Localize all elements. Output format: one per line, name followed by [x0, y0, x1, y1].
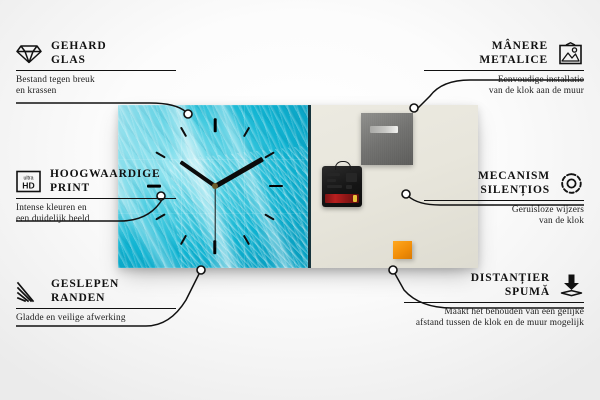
- feature-title-line2: SILENȚIOS: [478, 184, 550, 198]
- diamond-icon: [16, 43, 42, 64]
- feature-subtitle-line2: van de klok: [424, 216, 584, 228]
- down-arrow-onto-surface-icon: [559, 273, 584, 298]
- feature-subtitle: Geruisloze wijzers van de klok: [424, 201, 584, 228]
- feature-subtitle-line2: van de klok aan de muur: [424, 86, 584, 98]
- mechanism-detail: [327, 179, 336, 182]
- feature-high-quality-print: ultra HD HOOGWAARDIGE PRINT Intense kleu…: [16, 168, 176, 226]
- feature-subtitle-line1: Eenvoudige installatie: [424, 75, 584, 87]
- feature-subtitle-line2: afstand tussen de klok en de muur mogeli…: [404, 318, 584, 330]
- feature-subtitle-line1: Maakt het behouden van een gelijke: [404, 307, 584, 319]
- feature-subtitle-line2: een duidelijk beeld: [16, 214, 176, 226]
- feature-title: MÂNERE METALICE: [479, 40, 548, 67]
- feature-title: GESLEPEN RANDEN: [51, 278, 119, 305]
- mechanism-detail: [327, 173, 340, 176]
- feature-tempered-glass: GEHARD GLAS Bestand tegen breuk en krass…: [16, 40, 176, 98]
- battery-tip: [353, 195, 357, 202]
- feature-metal-handles: MÂNERE METALICE Eenvoudige installatie v…: [424, 40, 584, 98]
- mechanism-detail: [346, 173, 357, 182]
- mechanism-detail: [346, 185, 352, 189]
- clock-mechanism: [322, 166, 362, 207]
- ultra-hd-icon: ultra HD: [16, 170, 41, 193]
- feature-subtitle: Gladde en veilige afwerking: [16, 309, 176, 324]
- feature-title-line1: DISTANȚIER: [471, 272, 550, 286]
- feature-subtitle: Maakt het behouden van een gelijke afsta…: [404, 303, 584, 330]
- feature-silent-mechanism: MECANISM SILENȚIOS Geruisloze wijzers va…: [424, 170, 584, 228]
- feature-title-line1: HOOGWAARDIGE: [50, 168, 161, 182]
- hanger-slot: [370, 126, 398, 133]
- feature-subtitle: Intense kleuren en een duidelijk beeld: [16, 199, 176, 226]
- feature-header: MECANISM SILENȚIOS: [424, 170, 584, 200]
- gear-icon: [559, 171, 584, 196]
- feature-polished-edges: GESLEPEN RANDEN Gladde en veilige afwerk…: [16, 278, 176, 324]
- metal-hanger-plate: [361, 113, 413, 165]
- feature-subtitle-line1: Gladde en veilige afwerking: [16, 313, 176, 325]
- feature-title-line2: RANDEN: [51, 292, 119, 306]
- mechanism-hanger-loop: [335, 161, 351, 170]
- feature-subtitle-line1: Geruisloze wijzers: [424, 205, 584, 217]
- feature-title-line1: MÂNERE: [479, 40, 548, 54]
- feature-title-line2: PRINT: [50, 182, 161, 196]
- feature-subtitle-line1: Intense kleuren en: [16, 203, 176, 215]
- mechanism-detail: [327, 185, 342, 188]
- feature-subtitle: Bestand tegen breuk en krassen: [16, 71, 176, 98]
- feature-title: GEHARD GLAS: [51, 40, 107, 67]
- feature-title: HOOGWAARDIGE PRINT: [50, 168, 161, 195]
- clock-second-hand: [214, 186, 215, 248]
- battery-label: [325, 194, 359, 203]
- feature-title-line1: GESLEPEN: [51, 278, 119, 292]
- feature-header: GESLEPEN RANDEN: [16, 278, 176, 308]
- feature-title-line1: GEHARD: [51, 40, 107, 54]
- clock-tick: [269, 185, 283, 188]
- feature-subtitle-line1: Bestand tegen breuk: [16, 75, 176, 87]
- feature-title-line1: MECANISM: [478, 170, 550, 184]
- feature-title: DISTANȚIER SPUMĂ: [471, 272, 550, 299]
- infographic-canvas: GEHARD GLAS Bestand tegen breuk en krass…: [0, 0, 600, 400]
- feature-header: MÂNERE METALICE: [424, 40, 584, 70]
- diagonal-lines-icon: [16, 281, 42, 303]
- clock-center-cap: [212, 183, 218, 189]
- feature-title-line2: GLAS: [51, 54, 107, 68]
- clock-tick: [214, 118, 217, 132]
- feature-header: ultra HD HOOGWAARDIGE PRINT: [16, 168, 176, 198]
- orange-foam-spacer: [393, 241, 412, 259]
- feature-title: MECANISM SILENȚIOS: [478, 170, 550, 197]
- feature-subtitle: Eenvoudige installatie van de klok aan d…: [424, 71, 584, 98]
- feature-title-line2: METALICE: [479, 54, 548, 68]
- feature-foam-spacer: DISTANȚIER SPUMĂ Maakt het behouden van …: [404, 272, 584, 330]
- svg-text:HD: HD: [22, 181, 34, 191]
- feature-header: GEHARD GLAS: [16, 40, 176, 70]
- feature-header: DISTANȚIER SPUMĂ: [404, 272, 584, 302]
- feature-subtitle-line2: en krassen: [16, 86, 176, 98]
- picture-frame-icon: [557, 42, 584, 65]
- feature-title-line2: SPUMĂ: [471, 286, 550, 300]
